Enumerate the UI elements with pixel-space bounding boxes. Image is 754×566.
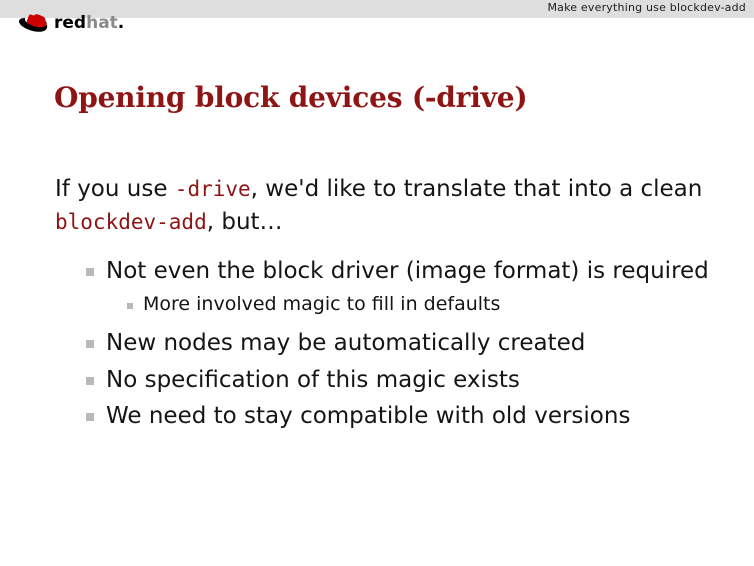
logo-word-hat: hat — [86, 13, 118, 33]
list-item-label: New nodes may be automatically created — [106, 330, 585, 356]
list-item: We need to stay compatible with old vers… — [86, 403, 726, 429]
bullet-square-icon — [127, 303, 133, 309]
list-item-label: Not even the block driver (image format)… — [106, 258, 709, 284]
bullet-square-icon — [86, 413, 94, 421]
bullet-square-icon — [86, 377, 94, 385]
logo-word-red: red — [54, 13, 86, 33]
list-item: Not even the block driver (image format)… — [86, 258, 726, 284]
redhat-logo: redhat. — [19, 9, 124, 37]
code-blockdev-add: blockdev-add — [55, 210, 207, 234]
list-item-label: We need to stay compatible with old vers… — [106, 403, 630, 429]
code-drive-option: -drive — [175, 177, 251, 201]
list-item-label: More involved magic to fill in defaults — [143, 294, 500, 316]
list-item: New nodes may be automatically created — [86, 330, 726, 356]
list-item: More involved magic to fill in defaults — [127, 294, 726, 316]
bullet-list: Not even the block driver (image format)… — [86, 258, 726, 440]
header-note: Make everything use blockdev-add — [547, 1, 746, 14]
intro-text-part3: , but… — [207, 209, 283, 235]
intro-paragraph: If you use -drive, we'd like to translat… — [55, 173, 705, 238]
list-item: No specification of this magic exists — [86, 367, 726, 393]
page-title: Opening block devices (-drive) — [54, 81, 527, 114]
intro-text-part2: , we'd like to translate that into a cle… — [251, 176, 703, 202]
intro-text-part1: If you use — [55, 176, 175, 202]
bullet-square-icon — [86, 340, 94, 348]
list-item-label: No specification of this magic exists — [106, 367, 520, 393]
logo-word-dot: . — [118, 13, 124, 33]
redhat-shadowman-icon — [19, 11, 53, 35]
redhat-wordmark: redhat. — [54, 15, 124, 32]
bullet-square-icon — [86, 268, 94, 276]
